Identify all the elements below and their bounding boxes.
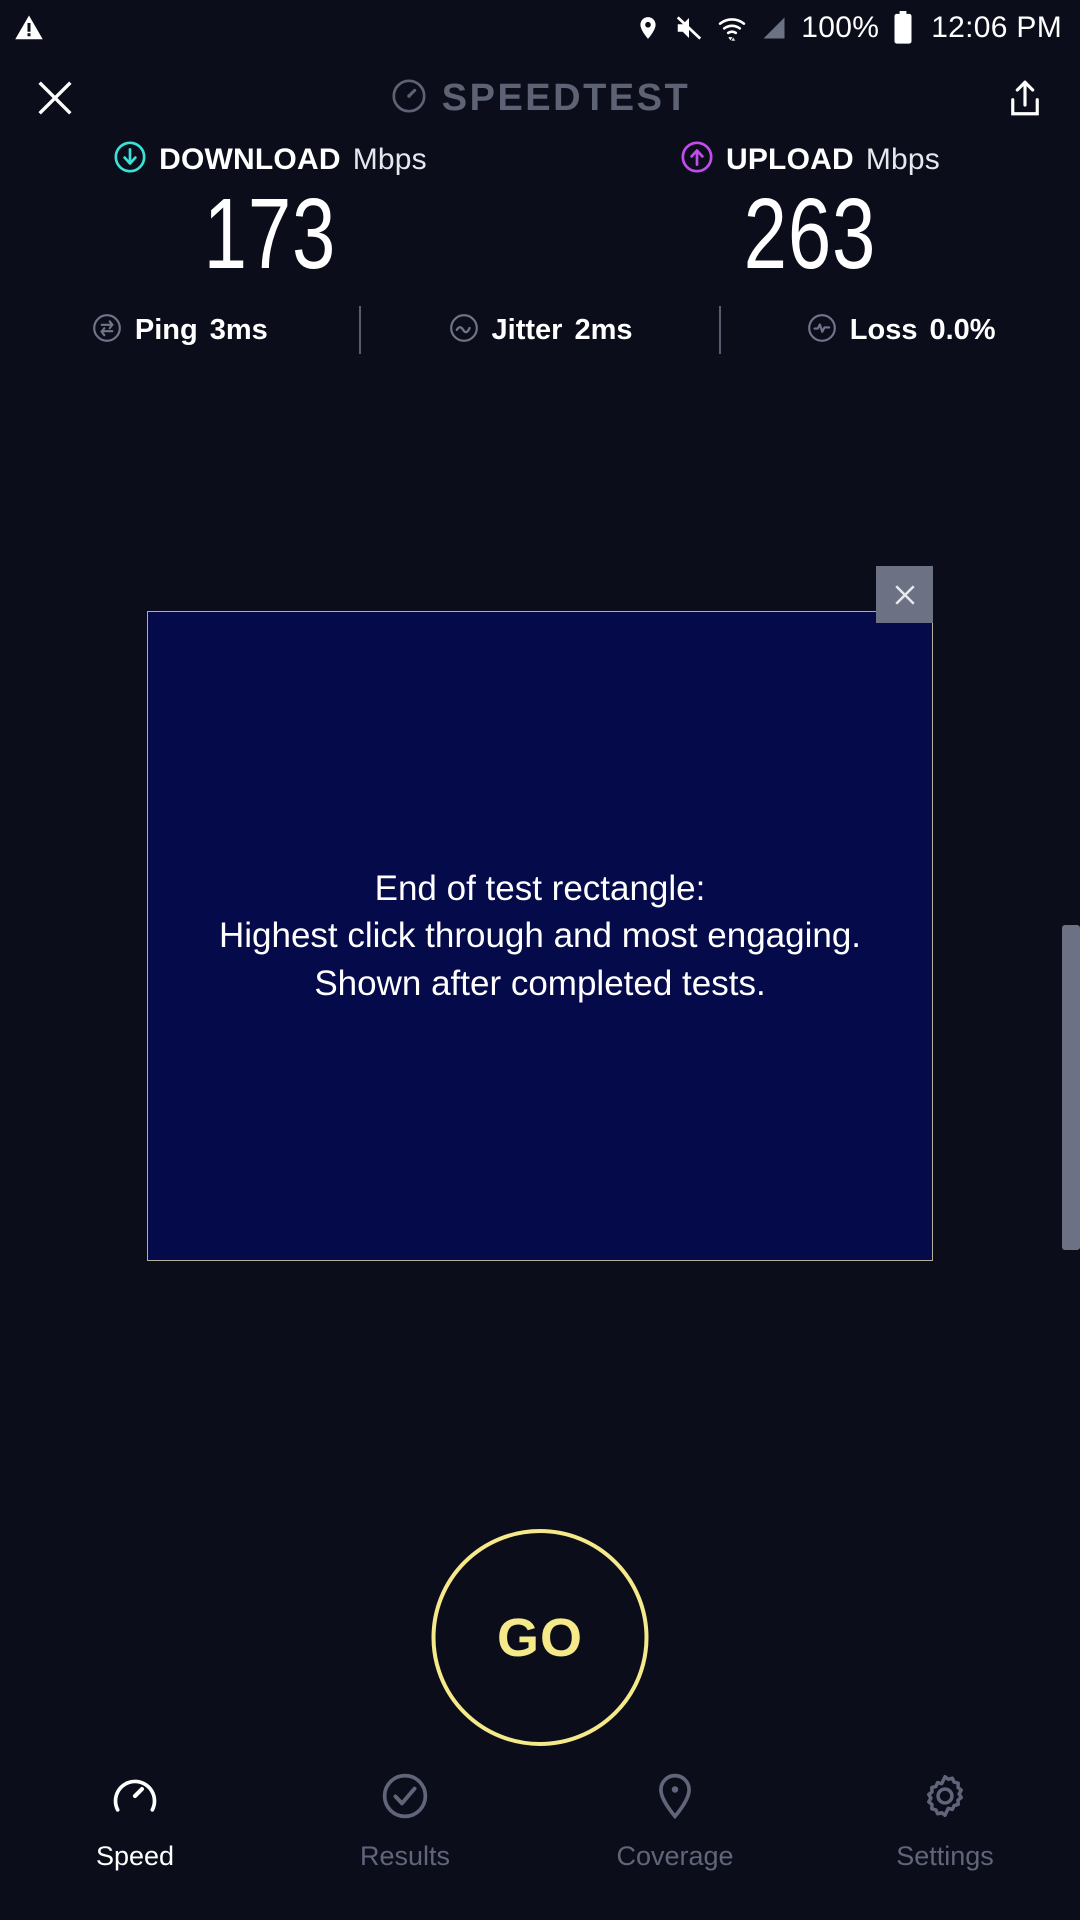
go-button[interactable]: GO xyxy=(432,1529,649,1746)
loss-value: 0.0% xyxy=(929,314,995,347)
nav-item-settings[interactable]: Settings xyxy=(810,1770,1080,1872)
jitter-metric: Jitter 2ms xyxy=(361,312,720,349)
speedometer-icon xyxy=(390,77,428,120)
battery-percent-label: 100% xyxy=(801,11,879,45)
mute-icon xyxy=(674,13,704,43)
upload-label: UPLOAD xyxy=(726,143,854,177)
status-bar: 100% 12:06 PM xyxy=(0,0,1080,56)
nav-item-speed[interactable]: Speed xyxy=(0,1770,270,1872)
status-bar-right: 100% 12:06 PM xyxy=(635,11,1062,45)
ping-metric: Ping 3ms xyxy=(0,312,359,349)
download-metric: DOWNLOAD Mbps 173 xyxy=(0,140,540,285)
nav-item-coverage[interactable]: Coverage xyxy=(540,1770,810,1872)
nav-label-settings: Settings xyxy=(896,1841,994,1872)
nav-item-results[interactable]: Results xyxy=(270,1770,540,1872)
ping-jitter-loss-row: Ping 3ms Jitter 2ms Loss 0.0% xyxy=(0,300,1080,360)
loss-label: Loss xyxy=(850,314,918,347)
upload-unit: Mbps xyxy=(866,143,940,177)
ad-text: End of test rectangle: Highest click thr… xyxy=(219,865,861,1007)
brand-label: SPEEDTEST xyxy=(442,77,690,120)
ad-banner[interactable]: End of test rectangle: Highest click thr… xyxy=(147,611,933,1261)
map-pin-icon xyxy=(649,1770,701,1827)
ping-label: Ping xyxy=(135,314,198,347)
wifi-icon xyxy=(717,13,747,43)
jitter-icon xyxy=(448,312,480,349)
go-button-label: GO xyxy=(497,1607,583,1669)
upload-metric: UPLOAD Mbps 263 xyxy=(540,140,1080,285)
app-bar: SPEEDTEST xyxy=(0,56,1080,140)
battery-full-icon xyxy=(892,11,914,45)
upload-value: 263 xyxy=(744,183,876,285)
nav-label-coverage: Coverage xyxy=(616,1841,733,1872)
download-value: 173 xyxy=(204,183,336,285)
check-circle-icon xyxy=(379,1770,431,1827)
bottom-navigation: Speed Results Coverage xyxy=(0,1750,1080,1920)
ping-icon xyxy=(91,312,123,349)
advertisement-container: End of test rectangle: Highest click thr… xyxy=(147,611,933,1261)
speedometer-icon xyxy=(109,1770,161,1827)
status-bar-left xyxy=(14,13,44,43)
download-label: DOWNLOAD xyxy=(159,143,341,177)
ping-value: 3ms xyxy=(210,314,268,347)
gear-icon xyxy=(919,1770,971,1827)
warning-triangle-icon xyxy=(14,13,44,43)
jitter-value: 2ms xyxy=(574,314,632,347)
download-upload-row: DOWNLOAD Mbps 173 UPLOAD Mbps xyxy=(0,140,1080,285)
jitter-label: Jitter xyxy=(492,314,563,347)
download-unit: Mbps xyxy=(353,143,427,177)
results-panel: DOWNLOAD Mbps 173 UPLOAD Mbps xyxy=(0,140,1080,285)
upload-arrow-icon xyxy=(680,140,714,179)
brand-title: SPEEDTEST xyxy=(0,56,1080,140)
loss-metric: Loss 0.0% xyxy=(721,312,1080,349)
share-button[interactable] xyxy=(996,69,1054,127)
nav-label-speed: Speed xyxy=(96,1841,174,1872)
ad-side-handle[interactable] xyxy=(1062,925,1080,1250)
close-button[interactable] xyxy=(26,69,84,127)
download-arrow-icon xyxy=(113,140,147,179)
ad-close-button[interactable] xyxy=(876,566,933,623)
nav-label-results: Results xyxy=(360,1841,450,1872)
cell-signal-icon xyxy=(760,14,788,42)
loss-icon xyxy=(806,312,838,349)
upload-header: UPLOAD Mbps xyxy=(680,140,940,179)
location-pin-icon xyxy=(635,13,661,43)
speedtest-app-screen: 100% 12:06 PM SPEEDTEST xyxy=(0,0,1080,1920)
download-header: DOWNLOAD Mbps xyxy=(113,140,427,179)
clock-label: 12:06 PM xyxy=(931,11,1062,45)
